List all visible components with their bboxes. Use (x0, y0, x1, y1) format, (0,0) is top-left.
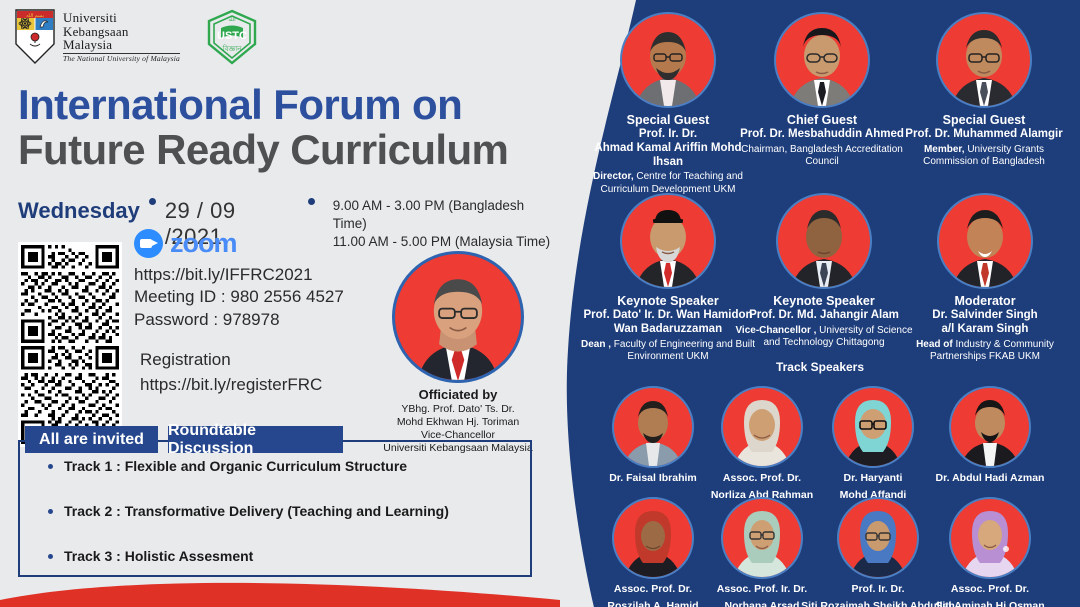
roundtable-discussion-tab: Roundtable Discussion (168, 426, 343, 453)
guest-affiliation: Vice-Chancellor , University of Science … (726, 325, 922, 349)
track-speaker-name-line-1: Assoc. Prof. Dr. (920, 583, 1060, 596)
ukm-wordmark: Universiti Kebangsaan Malaysia The Natio… (63, 8, 180, 62)
zoom-meeting-block: zoom https://bit.ly/IFFRC2021 Meeting ID… (134, 228, 344, 331)
portrait-illustration (622, 14, 714, 106)
guest-affiliation-role: Dean , (581, 339, 611, 350)
svg-text:الله: الله (228, 17, 235, 23)
all-are-invited-tab: All are invited (25, 426, 158, 453)
guest-card: Special Guest Prof. Dr. Muhammed Alamgir… (898, 12, 1070, 168)
track-speaker-photo (612, 386, 694, 468)
guest-affiliation-role: Director, (593, 171, 634, 182)
guest-name-line-1: Prof. Dr. Mesbahuddin Ahmed (732, 128, 912, 142)
track-item: Track 2 : Transformative Delivery (Teach… (48, 503, 518, 519)
guest-photo (774, 12, 870, 108)
guest-role: Moderator (904, 294, 1066, 309)
officiator-card: Officiated by YBhg. Prof. Dato' Ts. Dr. … (380, 251, 536, 455)
event-time-malaysia: 11.00 AM - 5.00 PM (Malaysia Time) (333, 233, 560, 251)
svg-text:بسم الله: بسم الله (26, 13, 44, 19)
left-content: بسم الله Universiti Kebangsaan Malaysia … (0, 0, 560, 607)
portrait-illustration (723, 499, 801, 577)
registration-block: Registration https://bit.ly/registerFRC (140, 348, 322, 397)
portrait-illustration (614, 388, 692, 466)
officiator-photo (392, 251, 524, 383)
portrait-illustration (839, 499, 917, 577)
track-speaker-photo (837, 497, 919, 579)
video-camera-icon (134, 229, 163, 258)
svg-text:বিজ্ঞান: বিজ্ঞান (222, 45, 243, 53)
ukm-line-3: Malaysia (63, 38, 180, 52)
guest-role: Special Guest (898, 113, 1070, 128)
guest-name-line-1: Prof. Dr. Md. Jahangir Alam (726, 309, 922, 323)
zoom-meeting-id: Meeting ID : 980 2556 4527 (134, 286, 344, 308)
portrait-illustration (938, 14, 1030, 106)
page-title: International Forum on Future Ready Curr… (18, 82, 538, 173)
officiator-line-2: Mohd Ekhwan Hj. Toriman (380, 416, 536, 429)
guest-affiliation-role: Vice-Chancellor , (735, 325, 816, 336)
portrait-illustration (395, 254, 521, 380)
track-speaker-photo (721, 497, 803, 579)
track-item: Track 1 : Flexible and Organic Curriculu… (48, 458, 518, 474)
ukm-line-1: Universiti (63, 11, 180, 25)
svg-text:USTC: USTC (217, 30, 247, 42)
track-speaker-card: Dr. Abdul Hadi Azman (920, 386, 1060, 489)
portrait-illustration (951, 388, 1029, 466)
event-times: 9.00 AM - 3.00 PM (Bangladesh Time) 11.0… (333, 197, 560, 250)
registration-label: Registration (140, 348, 322, 373)
guest-name-line-1: Prof. Ir. Dr. (578, 128, 758, 142)
track-speaker-name-line-2: Siti Aminah Hj Osman (920, 600, 1060, 607)
portrait-illustration (776, 14, 868, 106)
guest-affiliation: Chairman, Bangladesh Accreditation Counc… (732, 144, 912, 168)
ukm-line-2: Kebangsaan (63, 25, 180, 39)
track-speaker-photo (832, 386, 914, 468)
portrait-illustration (778, 195, 870, 287)
title-line-2: Future Ready Curriculum (18, 127, 538, 172)
ukm-logo: بسم الله Universiti Kebangsaan Malaysia … (14, 8, 180, 65)
zoom-details: https://bit.ly/IFFRC2021 Meeting ID : 98… (134, 264, 344, 331)
officiator-line-1: YBhg. Prof. Dato' Ts. Dr. (380, 403, 536, 416)
separator-dot-2 (308, 198, 315, 205)
guest-card: Special Guest Prof. Ir. Dr. Ahmad Kamal … (578, 12, 758, 196)
logo-row: بسم الله Universiti Kebangsaan Malaysia … (14, 8, 260, 66)
guest-photo (620, 12, 716, 108)
guest-card: Chief Guest Prof. Dr. Mesbahuddin Ahmed … (732, 12, 912, 168)
portrait-illustration (723, 388, 801, 466)
guest-photo (936, 12, 1032, 108)
track-speaker-name-line-1: Dr. Abdul Hadi Azman (920, 472, 1060, 485)
zoom-password: Password : 978978 (134, 309, 344, 331)
speakers-panel: Special Guest Prof. Ir. Dr. Ahmad Kamal … (560, 0, 1080, 607)
qr-code-icon (21, 245, 119, 343)
track-speaker-card: Dr. Haryanti Mohd Affandi (808, 386, 938, 501)
zoom-qr-code[interactable] (18, 242, 122, 346)
track-speaker-photo (949, 497, 1031, 579)
zoom-logo: zoom (134, 228, 344, 259)
guest-photo (937, 193, 1033, 289)
ukm-tagline: The National University of Malaysia (63, 53, 180, 63)
guest-role: Special Guest (578, 113, 758, 128)
guest-name-line-1: Prof. Dr. Muhammed Alamgir (898, 128, 1070, 142)
registration-url[interactable]: https://bit.ly/registerFRC (140, 373, 322, 398)
ukm-shield-icon: بسم الله (14, 8, 56, 65)
track-speaker-name-line-1: Dr. Haryanti (808, 472, 938, 485)
title-line-1: International Forum on (18, 82, 538, 127)
event-day: Wednesday (18, 198, 140, 224)
guest-card: Keynote Speaker Prof. Dr. Md. Jahangir A… (726, 193, 922, 349)
portrait-illustration (834, 388, 912, 466)
ustc-logo-icon: USTC বিজ্ঞান الله (204, 8, 260, 66)
guest-card: Moderator Dr. Salvinder Singh a/l Karam … (904, 193, 1066, 363)
guest-affiliation-role: Head of (916, 339, 953, 350)
track-speaker-photo (949, 386, 1031, 468)
guest-name-line-2: a/l Karam Singh (904, 323, 1066, 337)
portrait-illustration (622, 195, 714, 287)
guest-affiliation-org: Chairman, Bangladesh Accreditation Counc… (741, 144, 903, 167)
track-speaker-card: Assoc. Prof. Dr. Siti Aminah Hj Osman (920, 497, 1060, 607)
track-speaker-photo (721, 386, 803, 468)
track-speakers-heading: Track Speakers (560, 360, 1080, 374)
event-time-bangladesh: 9.00 AM - 3.00 PM (Bangladesh Time) (333, 197, 560, 233)
separator-dot-1 (149, 198, 156, 205)
guest-name-line-2: Ahmad Kamal Ariffin Mohd Ihsan (578, 142, 758, 170)
guest-affiliation: Member, University Grants Commission of … (898, 144, 1070, 168)
portrait-illustration (939, 195, 1031, 287)
guest-photo (620, 193, 716, 289)
track-speaker-photo (612, 497, 694, 579)
guest-role: Chief Guest (732, 113, 912, 128)
zoom-wordmark: zoom (170, 228, 237, 259)
guest-name-line-1: Dr. Salvinder Singh (904, 309, 1066, 323)
portrait-illustration (614, 499, 692, 577)
poster-canvas: بسم الله Universiti Kebangsaan Malaysia … (0, 0, 1080, 607)
track-item: Track 3 : Holistic Assesment (48, 548, 518, 564)
officiator-heading: Officiated by (380, 387, 536, 403)
track-list: Track 1 : Flexible and Organic Curriculu… (48, 458, 518, 593)
zoom-url[interactable]: https://bit.ly/IFFRC2021 (134, 264, 344, 286)
guest-photo (776, 193, 872, 289)
guest-affiliation-role: Member, (924, 144, 965, 155)
guest-role: Keynote Speaker (726, 294, 922, 309)
portrait-illustration (951, 499, 1029, 577)
